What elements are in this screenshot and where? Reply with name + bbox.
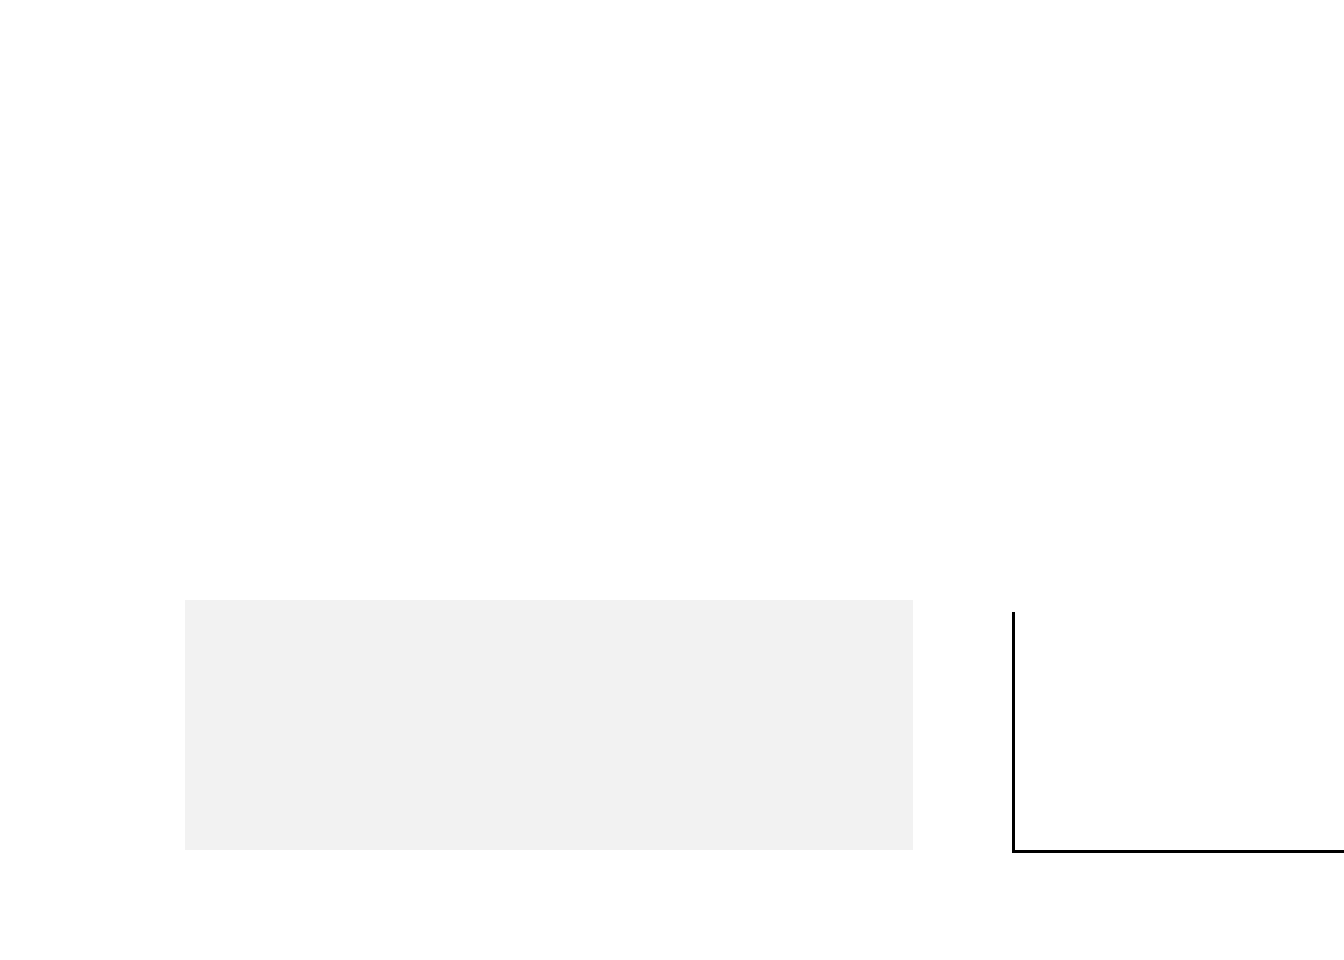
intersection-plot-area (190, 18, 912, 518)
matrix-panel (0, 600, 920, 860)
upset-plot-figure (0, 0, 1344, 960)
intersection-bar-panel (0, 0, 920, 540)
group-x-axis-ticks (1012, 858, 1344, 888)
group-y-axis-ticks (960, 604, 1010, 854)
group-plot-area (1012, 612, 1344, 853)
matrix-dot-grid (185, 600, 913, 850)
intersection-y-axis-label (24, 0, 64, 540)
matrix-set-labels (0, 600, 183, 860)
intersection-y-axis-ticks (60, 0, 185, 540)
